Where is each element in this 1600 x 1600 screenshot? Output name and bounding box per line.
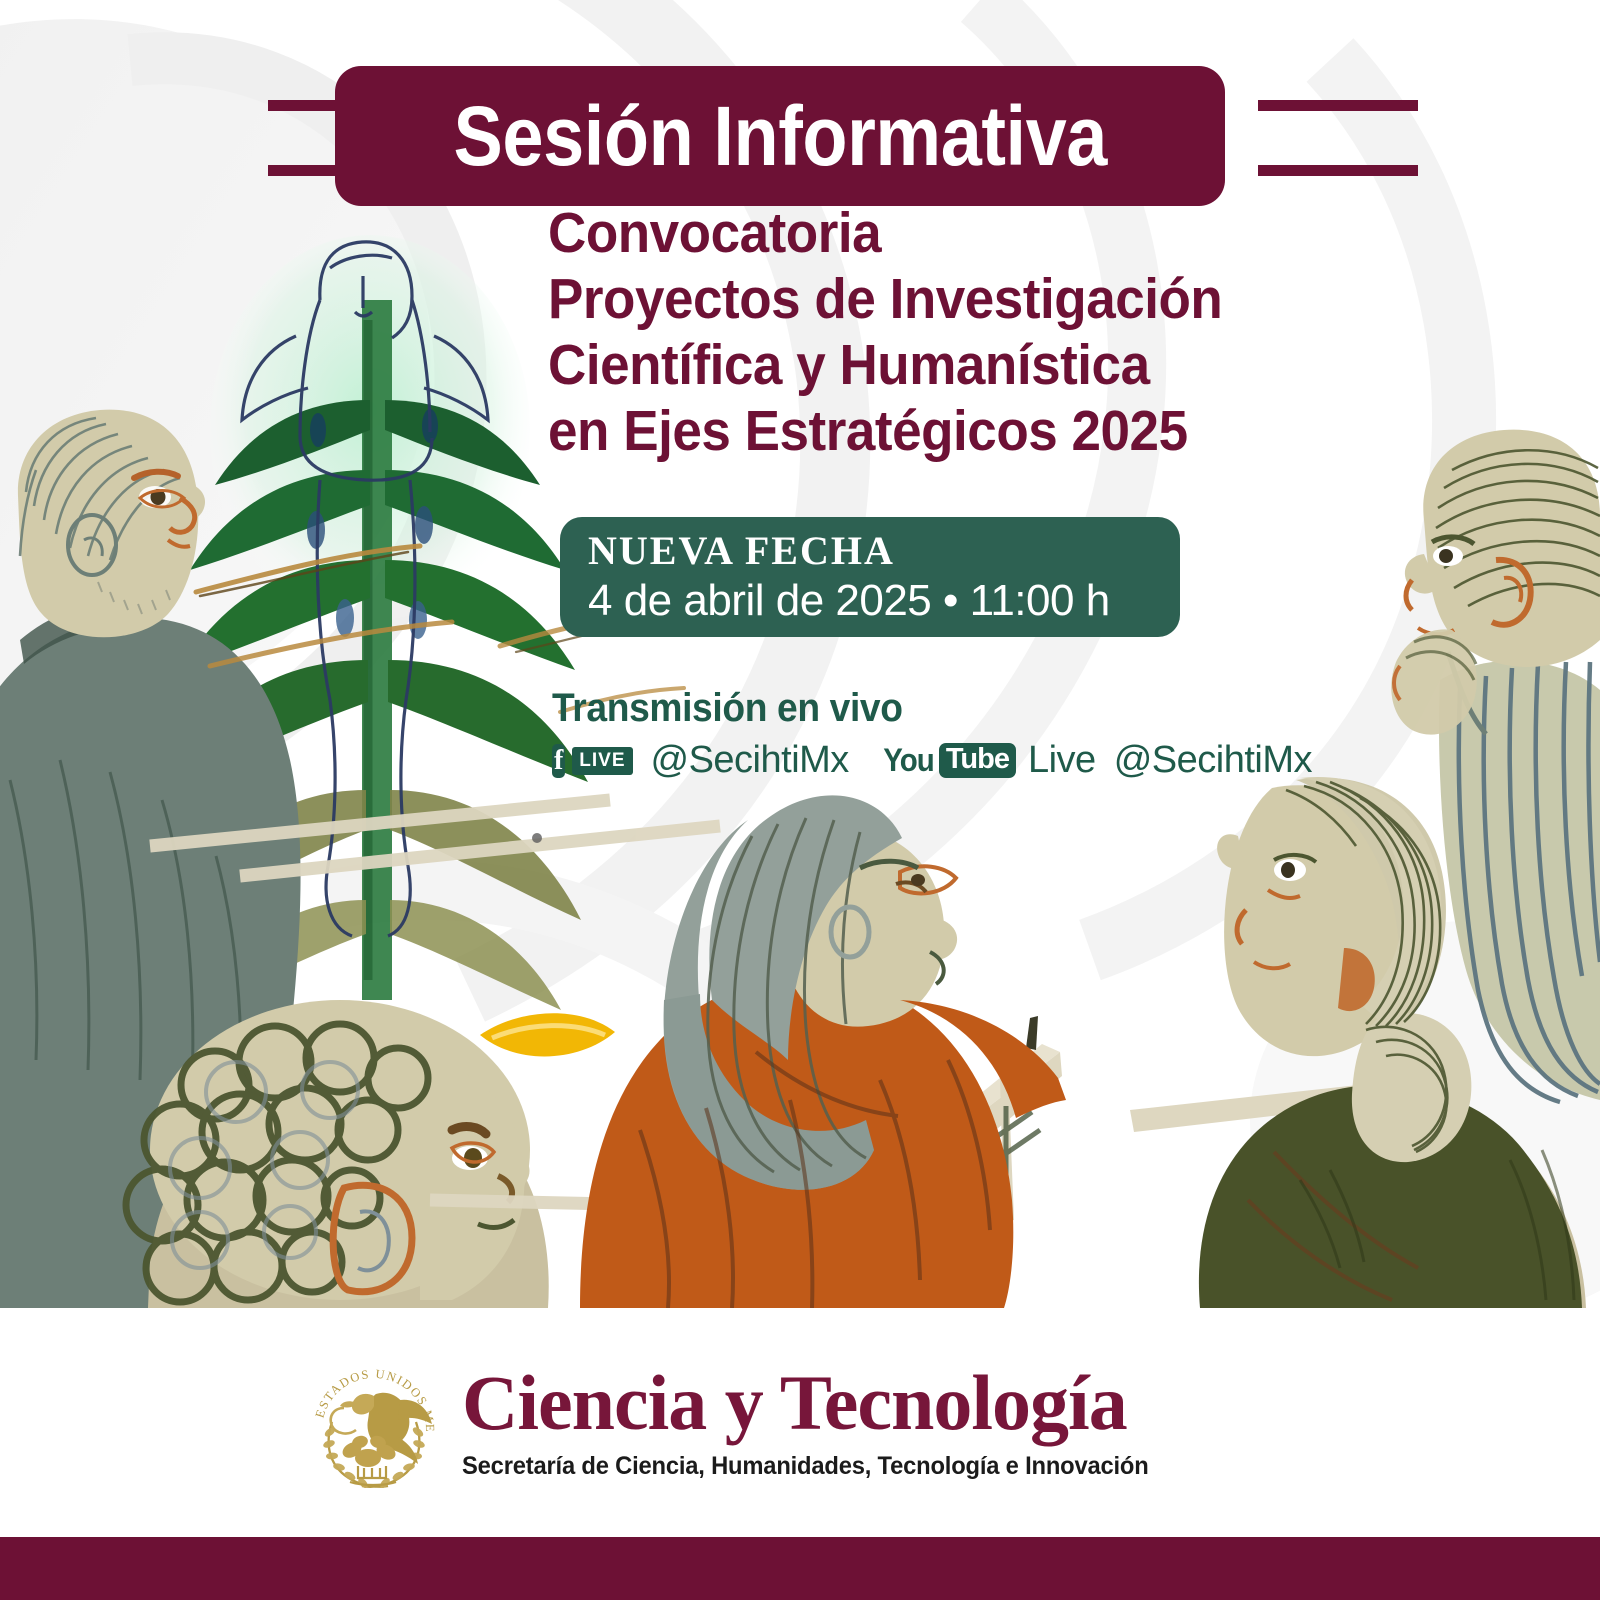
session-banner: Sesión Informativa	[335, 66, 1225, 206]
date-badge-label: NUEVA FECHA	[588, 529, 1180, 573]
banner-title: Sesión Informativa	[453, 94, 1106, 178]
date-badge-value: 4 de abril de 2025 • 11:00 h	[588, 575, 1180, 628]
coat-of-arms-icon: ESTADOS UNIDOS MEXICANOS	[300, 1350, 448, 1498]
live-transmission-title: Transmisión en vivo	[552, 686, 1259, 731]
facebook-icon[interactable]: f	[552, 744, 565, 778]
headline-line-4: en Ejes Estratégicos 2025	[548, 398, 1385, 464]
facebook-live-badge: LIVE	[572, 747, 632, 775]
banner-rule-right-top	[1258, 100, 1418, 111]
youtube-handle[interactable]: @SecihtiMx	[1114, 739, 1312, 782]
headline-block: Convocatoria Proyectos de Investigación …	[548, 200, 1448, 464]
brand-block: Ciencia y Tecnología Secretaría de Cienc…	[462, 1350, 1185, 1481]
youtube-live-label: Live	[1028, 739, 1096, 782]
headline-line-2: Proyectos de Investigación	[548, 266, 1385, 332]
live-transmission-block: Transmisión en vivo f LIVE @SecihtiMx Yo…	[552, 686, 1312, 782]
banner-rule-right-bottom	[1258, 165, 1418, 176]
facebook-handle[interactable]: @SecihtiMx	[651, 739, 849, 782]
header-banner-area: Sesión Informativa	[0, 28, 1600, 188]
headline-line-1: Convocatoria	[548, 200, 1385, 266]
youtube-you-text: You	[883, 742, 934, 779]
headline-line-3: Científica y Humanística	[548, 332, 1385, 398]
youtube-tube-badge: Tube	[939, 743, 1016, 778]
poster-root: Sesión Informativa Convocatoria Proyecto…	[0, 0, 1600, 1600]
footer-area: ESTADOS UNIDOS MEXICANOS	[0, 1308, 1600, 1537]
brand-subtitle: Secretaría de Ciencia, Humanidades, Tecn…	[462, 1452, 1149, 1481]
bottom-bar	[0, 1537, 1600, 1600]
youtube-icon[interactable]: You Tube	[881, 742, 1016, 779]
date-badge: NUEVA FECHA 4 de abril de 2025 • 11:00 h	[560, 517, 1180, 637]
social-handles-row: f LIVE @SecihtiMx You Tube Live @Secihti…	[552, 739, 1312, 782]
ink-dot	[532, 833, 542, 843]
brand-title: Ciencia y Tecnología	[462, 1364, 1185, 1442]
